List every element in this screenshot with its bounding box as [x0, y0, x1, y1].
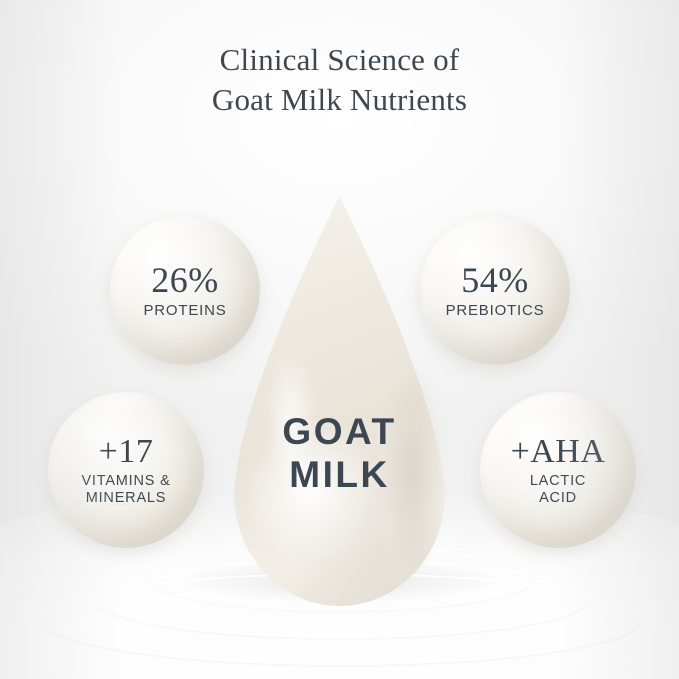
stat-bubble-proteins: 26% PROTEINS [110, 215, 260, 365]
stat-caption-vitamins: VITAMINS & MINERALS [81, 473, 170, 507]
stat-bubble-aha: +AHA LACTIC ACID [480, 392, 636, 548]
droplet-label-line-1: GOAT [235, 410, 445, 453]
stat-bubble-prebiotics: 54% PREBIOTICS [420, 215, 570, 365]
stat-caption-aha-line-2: ACID [530, 490, 586, 507]
stat-caption-proteins-line-1: PROTEINS [143, 302, 226, 319]
droplet-label-line-2: MILK [235, 453, 445, 496]
infographic-image: Clinical Science of Goat Milk Nutrients … [0, 0, 679, 679]
stat-caption-prebiotics: PREBIOTICS [446, 302, 545, 319]
stat-caption-proteins: PROTEINS [143, 302, 226, 319]
stat-caption-aha-line-1: LACTIC [530, 473, 586, 490]
stat-caption-aha: LACTIC ACID [530, 473, 586, 507]
milk-droplet: GOAT MILK [235, 196, 445, 606]
page-title: Clinical Science of Goat Milk Nutrients [0, 40, 679, 120]
page-title-line-1: Clinical Science of [220, 42, 460, 77]
stat-value-vitamins: +17 [99, 433, 154, 470]
stat-value-aha: +AHA [511, 433, 606, 470]
stat-caption-vitamins-line-2: MINERALS [81, 490, 170, 507]
stat-value-prebiotics: 54% [461, 262, 529, 299]
stat-caption-prebiotics-line-1: PREBIOTICS [446, 302, 545, 319]
stat-bubble-vitamins: +17 VITAMINS & MINERALS [48, 392, 204, 548]
stat-caption-vitamins-line-1: VITAMINS & [81, 473, 170, 490]
droplet-label: GOAT MILK [235, 410, 445, 496]
stat-value-proteins: 26% [151, 262, 219, 299]
page-title-line-2: Goat Milk Nutrients [0, 80, 679, 120]
